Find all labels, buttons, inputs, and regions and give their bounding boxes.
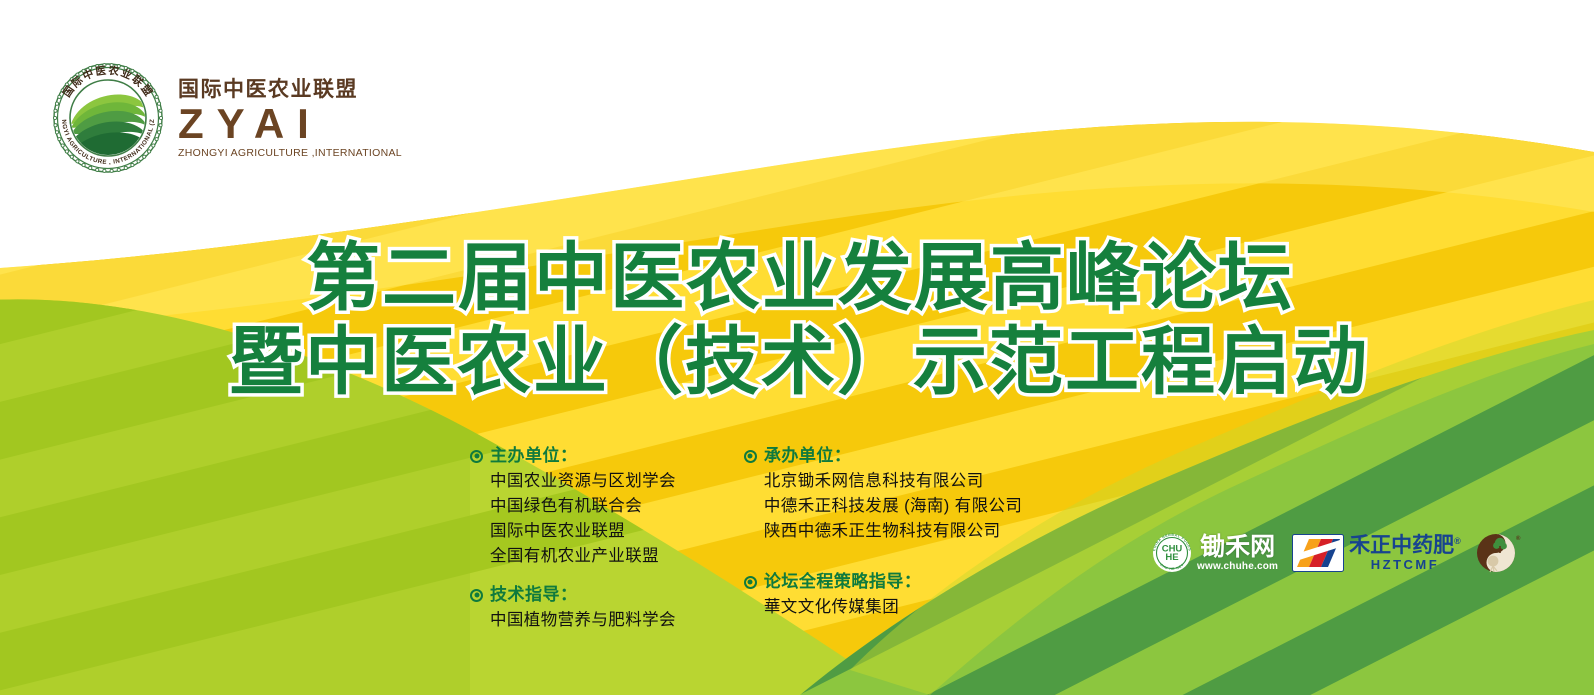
list-item: 国际中医农业联盟 [490,519,676,544]
list-item: 中国绿色有机联合会 [490,494,676,519]
organization-logo: 国际中医农业联盟 ZHONGYI AGRICULTURE , INTERNATI… [52,62,402,174]
list-item: 中国植物营养与肥料学会 [490,608,676,633]
info-group-host: 主办单位： 中国农业资源与区划学会 中国绿色有机联合会 国际中医农业联盟 全国有… [470,444,676,569]
info-heading-label: 主办单位： [490,444,578,469]
chuhe-wordmark: 锄禾网 www.chuhe.com [1197,535,1278,572]
bullet-icon [744,576,757,589]
list-item: 華文文化传媒集团 [764,595,1022,620]
sponsor-tree-root: ® [1475,531,1521,575]
zyai-emblem-icon: 国际中医农业联盟 ZHONGYI AGRICULTURE , INTERNATI… [52,62,164,174]
info-heading: 承办单位： [744,444,1022,469]
sponsor-chuhe: CHU HE CHINA HERBAL FOODS CHU HE NET 锄禾网… [1152,533,1278,573]
logo-english-name: ZHONGYI AGRICULTURE ,INTERNATIONAL [178,148,402,160]
info-group-technical-guidance: 技术指导： 中国植物营养与肥料学会 [470,583,676,633]
sponsor-url: www.chuhe.com [1197,562,1278,572]
bullet-icon [470,589,483,602]
logo-acronym: ZYAI [178,103,402,145]
chuhe-circle-icon: CHU HE CHINA HERBAL FOODS CHU HE NET [1152,533,1192,573]
spacer [744,558,1022,570]
info-heading-label: 论坛全程策略指导： [764,570,922,595]
info-heading-label: 承办单位： [764,444,852,469]
list-item: 全国有机农业产业联盟 [490,544,676,569]
info-heading: 主办单位： [470,444,676,469]
logo-chinese-name: 国际中医农业联盟 [178,78,402,102]
sponsor-name-en: HZTCMF [1371,558,1439,571]
bullet-icon [744,450,757,463]
logo-wordmark: 国际中医农业联盟 ZYAI ZHONGYI AGRICULTURE ,INTER… [178,76,402,160]
svg-text:HE: HE [1165,552,1178,563]
list-item: 陕西中德禾正生物科技有限公司 [764,519,1022,544]
event-banner: 国际中医农业联盟 ZHONGYI AGRICULTURE , INTERNATI… [0,0,1594,695]
info-heading-label: 技术指导： [490,583,578,608]
hzt-wordmark: 禾正中药肥® HZTCMF [1349,535,1461,571]
info-group-organizer: 承办单位： 北京锄禾网信息科技有限公司 中德禾正科技发展 (海南) 有限公司 陕… [744,444,1022,544]
sponsor-logo-strip: CHU HE CHINA HERBAL FOODS CHU HE NET 锄禾网… [1152,531,1521,575]
list-item: 中德禾正科技发展 (海南) 有限公司 [764,494,1022,519]
hzt-parallelogram-icon [1292,534,1344,572]
sponsor-name: 锄禾网 [1200,535,1275,560]
info-column-left: 主办单位： 中国农业资源与区划学会 中国绿色有机联合会 国际中医农业联盟 全国有… [470,444,676,633]
sponsor-name-text: 禾正中药肥 [1349,534,1454,557]
bullet-icon [470,450,483,463]
info-column-right: 承办单位： 北京锄禾网信息科技有限公司 中德禾正科技发展 (海南) 有限公司 陕… [744,444,1022,633]
tree-root-circle-icon: ® [1475,531,1521,575]
trademark-mark: ® [1454,536,1461,546]
organizer-info: 主办单位： 中国农业资源与区划学会 中国绿色有机联合会 国际中医农业联盟 全国有… [470,444,1022,633]
list-item: 中国农业资源与区划学会 [490,469,676,494]
info-heading: 技术指导： [470,583,676,608]
sponsor-name: 禾正中药肥® [1349,535,1461,556]
sponsor-hzt: 禾正中药肥® HZTCMF [1292,534,1461,572]
info-heading: 论坛全程策略指导： [744,570,1022,595]
trademark-mark: ® [1516,535,1521,542]
info-group-strategy-guidance: 论坛全程策略指导： 華文文化传媒集团 [744,570,1022,620]
list-item: 北京锄禾网信息科技有限公司 [764,469,1022,494]
